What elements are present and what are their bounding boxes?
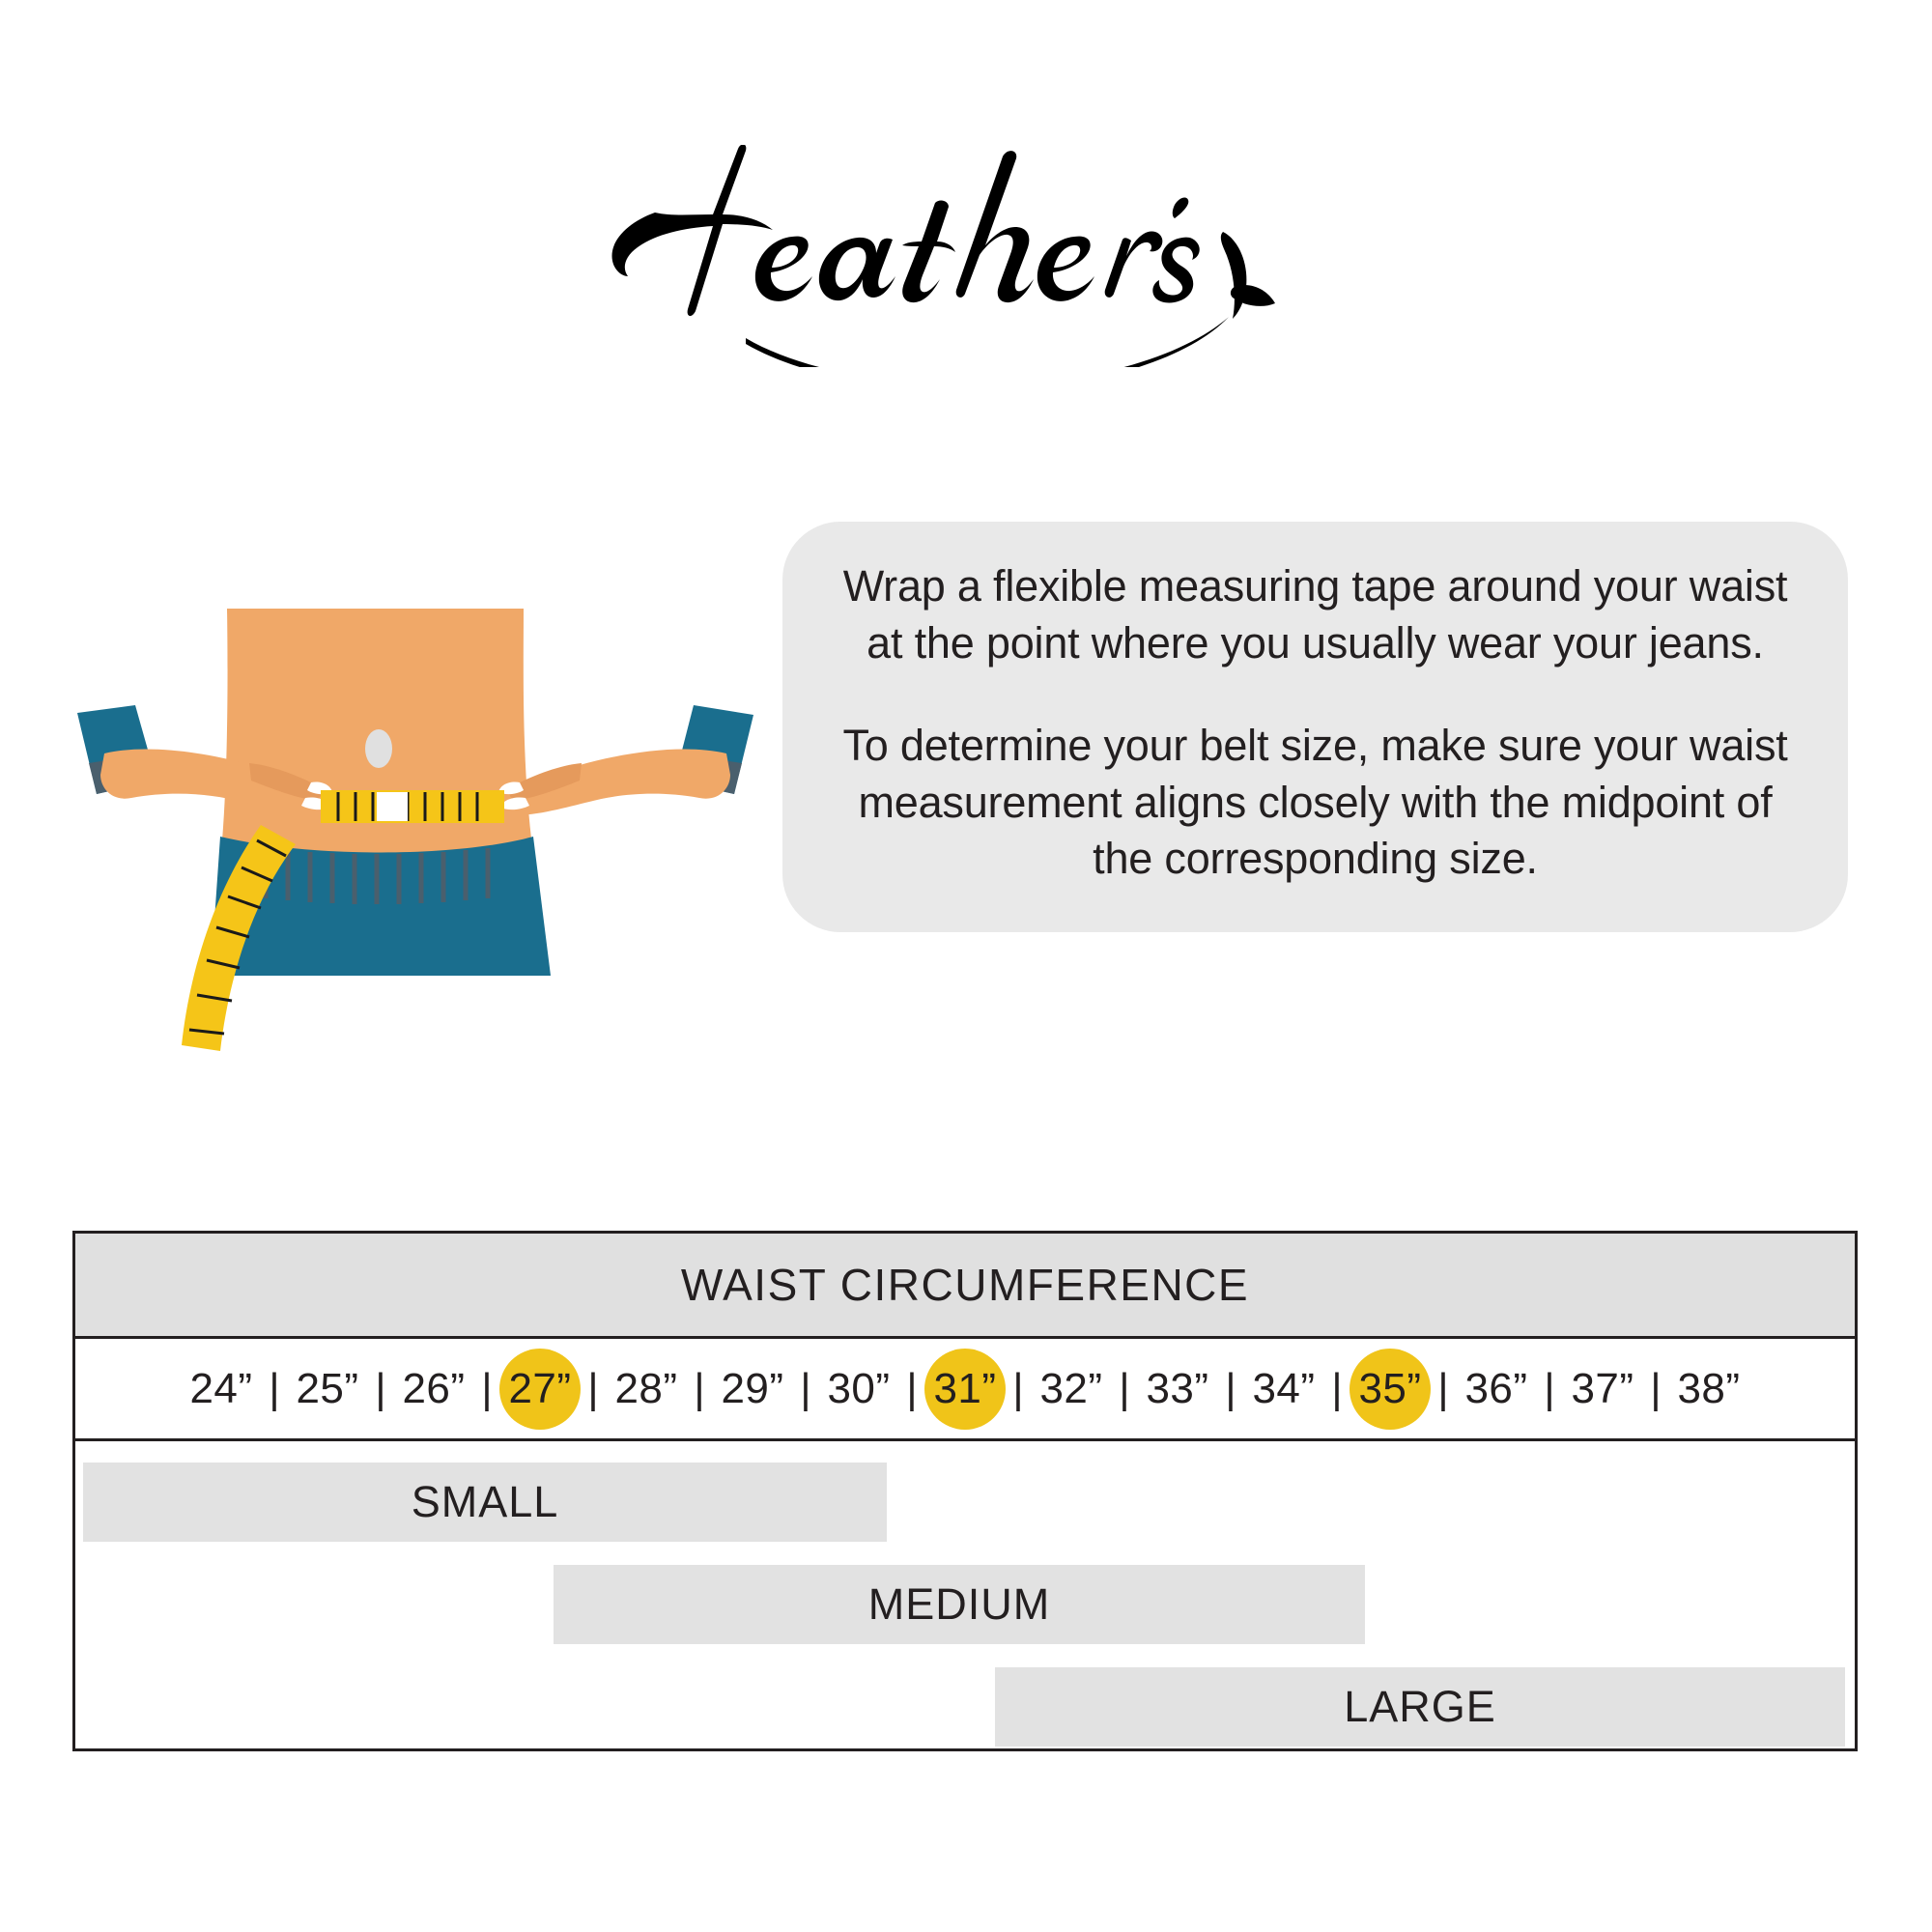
size-chart-table: WAIST CIRCUMFERENCE 24”|25”|26”|27”|28”|… xyxy=(72,1231,1858,1751)
heathers-script-logo-icon xyxy=(599,145,1333,367)
measurement-cell[interactable]: 38” xyxy=(1668,1349,1749,1430)
measurement-separator: | xyxy=(1537,1365,1562,1413)
measurement-separator: | xyxy=(368,1365,393,1413)
measurement-label: 30” xyxy=(827,1365,890,1413)
measurement-cell[interactable]: 26” xyxy=(393,1349,474,1430)
measurement-separator: | xyxy=(1006,1365,1031,1413)
measurement-label: 37” xyxy=(1571,1365,1634,1413)
measurement-separator: | xyxy=(1218,1365,1243,1413)
measurement-label: 24” xyxy=(189,1365,252,1413)
measurement-label: 29” xyxy=(721,1365,783,1413)
measurement-cell[interactable]: 34” xyxy=(1243,1349,1324,1430)
measurement-cell-highlighted[interactable]: 31” xyxy=(924,1349,1006,1430)
measurement-separator: | xyxy=(581,1365,606,1413)
measurement-separator: | xyxy=(474,1365,499,1413)
measurement-cell[interactable]: 37” xyxy=(1562,1349,1643,1430)
measurement-separator: | xyxy=(793,1365,818,1413)
measurement-separator: | xyxy=(1431,1365,1456,1413)
navel-shape xyxy=(365,729,392,768)
size-bar-large-label: LARGE xyxy=(1344,1682,1496,1732)
brand-logo xyxy=(0,135,1932,377)
waist-measuring-illustration xyxy=(68,609,763,1150)
measurement-label: 34” xyxy=(1252,1365,1315,1413)
measurement-row: 24”|25”|26”|27”|28”|29”|30”|31”|32”|33”|… xyxy=(75,1339,1855,1441)
measurement-separator: | xyxy=(1112,1365,1137,1413)
measurement-label: 31” xyxy=(933,1365,996,1413)
measurement-cell[interactable]: 25” xyxy=(287,1349,368,1430)
table-header: WAIST CIRCUMFERENCE xyxy=(75,1234,1855,1339)
measurement-cell[interactable]: 32” xyxy=(1031,1349,1112,1430)
measurement-separator: | xyxy=(1324,1365,1350,1413)
measurement-label: 32” xyxy=(1039,1365,1102,1413)
measurement-separator: | xyxy=(1643,1365,1668,1413)
measurement-separator: | xyxy=(899,1365,924,1413)
measurement-cell[interactable]: 30” xyxy=(818,1349,899,1430)
size-chart-page: Wrap a flexible measuring tape around yo… xyxy=(0,0,1932,1932)
size-bar-medium-label: MEDIUM xyxy=(868,1579,1050,1630)
measurement-label: 28” xyxy=(614,1365,677,1413)
measurement-cell-highlighted[interactable]: 27” xyxy=(499,1349,581,1430)
measurement-label: 27” xyxy=(508,1365,571,1413)
measurement-cell[interactable]: 33” xyxy=(1137,1349,1218,1430)
measurement-cell[interactable]: 24” xyxy=(181,1349,262,1430)
measurement-cell[interactable]: 28” xyxy=(606,1349,687,1430)
size-bars-area: SMALL MEDIUM LARGE xyxy=(75,1441,1855,1748)
measurement-cell[interactable]: 36” xyxy=(1456,1349,1537,1430)
instruction-paragraph-1: Wrap a flexible measuring tape around yo… xyxy=(823,558,1807,671)
size-bar-small-label: SMALL xyxy=(412,1477,559,1527)
size-bar-medium: MEDIUM xyxy=(554,1565,1365,1644)
measurement-label: 36” xyxy=(1464,1365,1527,1413)
measurement-label: 38” xyxy=(1677,1365,1740,1413)
size-bar-small: SMALL xyxy=(83,1463,887,1542)
measurement-label: 26” xyxy=(402,1365,465,1413)
measurement-label: 35” xyxy=(1358,1365,1421,1413)
paragraph-spacer xyxy=(823,671,1807,718)
illustration-svg xyxy=(68,609,763,1150)
instructions-card: Wrap a flexible measuring tape around yo… xyxy=(782,522,1848,932)
size-bar-large: LARGE xyxy=(995,1667,1845,1747)
measurement-cell-highlighted[interactable]: 35” xyxy=(1350,1349,1431,1430)
instruction-paragraph-2: To determine your belt size, make sure y… xyxy=(823,718,1807,888)
measurement-label: 33” xyxy=(1146,1365,1208,1413)
measurement-separator: | xyxy=(687,1365,712,1413)
measurement-label: 25” xyxy=(296,1365,358,1413)
measurement-separator: | xyxy=(262,1365,287,1413)
table-header-label: WAIST CIRCUMFERENCE xyxy=(681,1259,1249,1311)
measurement-cell[interactable]: 29” xyxy=(712,1349,793,1430)
